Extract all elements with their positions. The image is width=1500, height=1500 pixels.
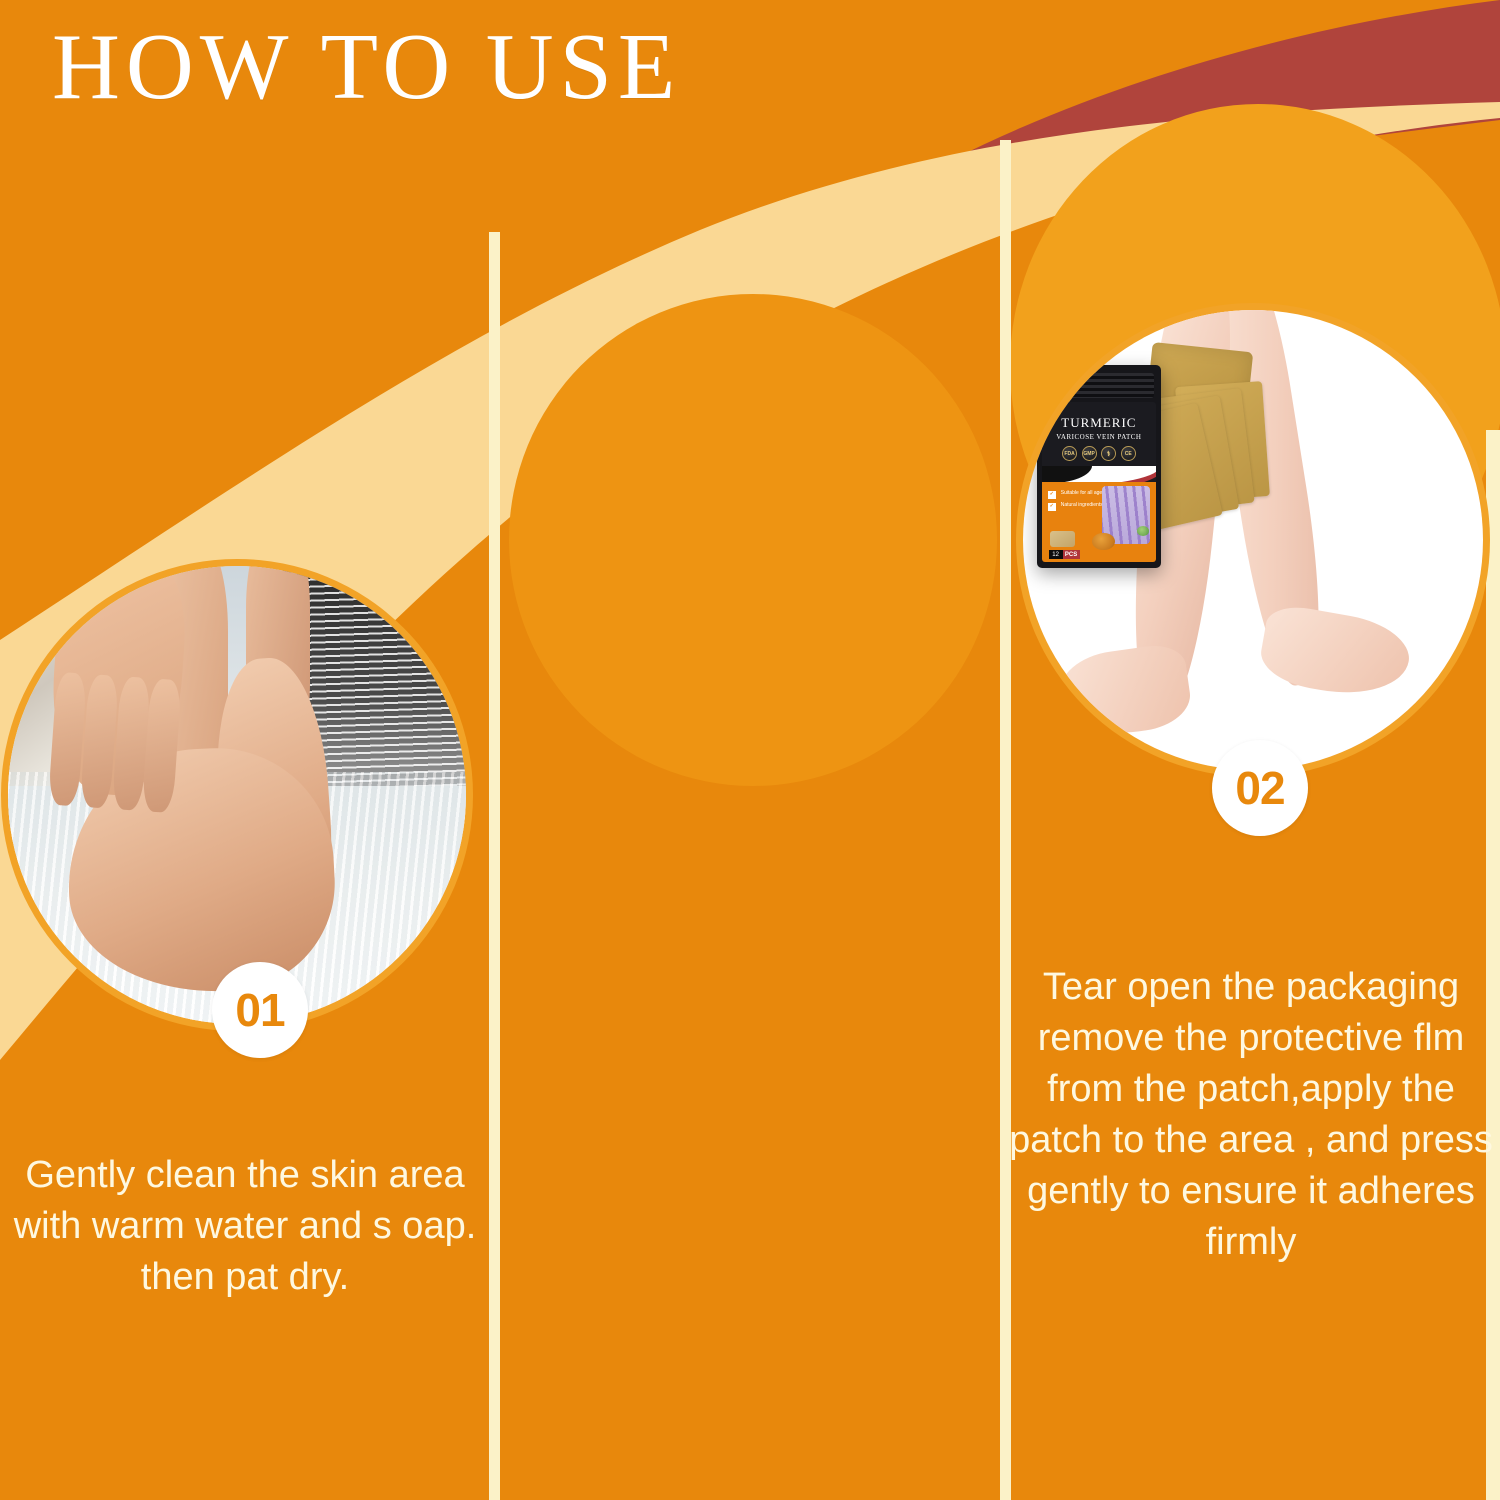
step-number-badge-01: 01	[212, 962, 308, 1058]
step-column-02: TURMERIC VARICOSE VEIN PATCH FDA GMP ⚕ C…	[500, 0, 1000, 1500]
column-divider-1	[489, 232, 500, 1500]
step-column-03: IX VIII II III XII VI TURMERIC VARICOSE …	[1011, 0, 1486, 1500]
column-divider-2	[1000, 140, 1011, 1500]
feet-in-shower-photo	[8, 566, 466, 1024]
hand	[46, 566, 191, 799]
step-caption-01: Gently clean the skin area with warm wat…	[10, 1150, 480, 1303]
shower-scene	[8, 566, 466, 1024]
step-column-01: 01 Gently clean the skin area with warm …	[0, 0, 489, 1500]
finger	[79, 674, 119, 809]
how-to-use-poster: HOW TO USE	[0, 0, 1500, 1500]
